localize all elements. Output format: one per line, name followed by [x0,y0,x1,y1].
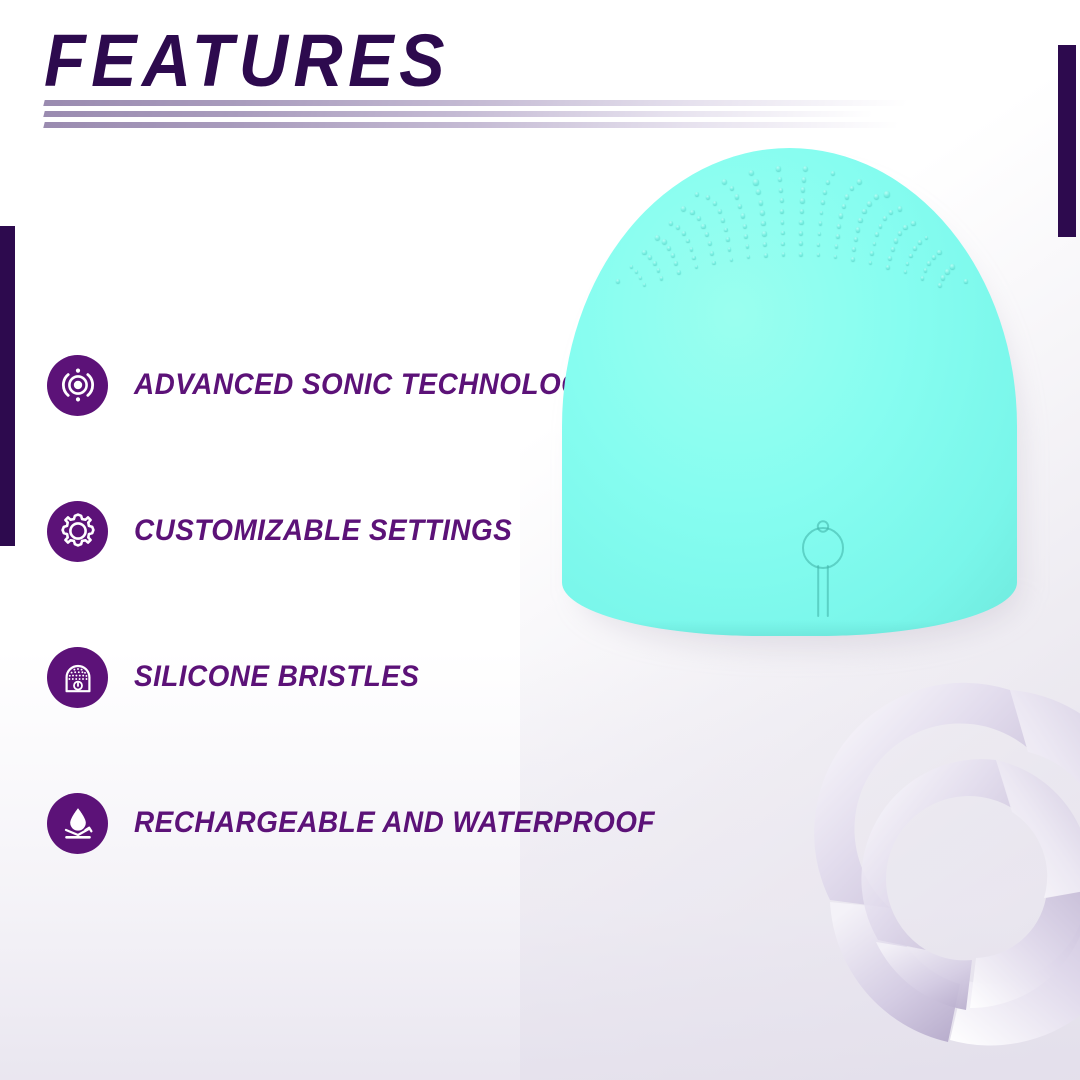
bristle-dot [826,180,830,184]
bristle-dot [677,270,681,274]
bristle-dot [681,206,686,211]
bristle-dot [616,279,620,283]
bristle-dot [662,239,667,244]
bristle-dot [749,170,754,175]
bristle-dot [799,220,803,224]
page-title-block: FEATURES [44,22,664,100]
bristle-dot [889,210,893,214]
bristle-dot [835,244,839,248]
bristle-dot [781,220,785,224]
bristle-dot [837,224,841,228]
bristle-dot [743,224,747,228]
bristle-dot [845,194,849,198]
bristle-dot [918,240,922,244]
bristle-dot [730,258,733,261]
bristle-dot [756,189,761,194]
product-image [562,148,1032,648]
bristle-dot [801,187,806,192]
bristle-dot [867,201,872,206]
bristle-dot [818,232,821,235]
bristle-dot [891,247,895,251]
feature-label: RECHARGEABLE AND WATERPROOF [134,806,655,840]
bristle-dot [630,265,633,268]
feature-label: SILICONE BRISTLES [134,660,419,694]
bristle-dot [800,198,805,203]
bristle-dot [823,190,827,194]
bristle-dot [701,224,705,228]
bristle-dot [695,265,698,268]
feature-poster: FEATURES ADVANCED SONIC TECHNOLOGY [0,0,1080,1080]
bristle-dot [708,241,712,245]
feature-item-rechargeable-waterproof[interactable]: RECHARGEABLE AND WATERPROOF [47,788,687,858]
bristle-dot [686,239,690,243]
bristle-dot [869,261,872,264]
bristle-dot [802,177,807,182]
bristle-dot [950,264,955,269]
bristle-dot [925,236,929,240]
product-bristle-zone [592,160,992,280]
bristle-dot [945,269,949,273]
bristle-dot [776,166,780,170]
product-body [562,148,1017,636]
title-rule-1 [43,100,944,106]
bristle-dot [903,225,908,230]
bristle-dot [884,191,889,196]
bristle-dot [909,254,912,257]
left-accent-bar [0,226,15,546]
bristle-dot [781,231,785,235]
bristle-dot [819,221,822,224]
bristle-dot [842,204,846,208]
bristle-dot [858,218,863,223]
bristle-dot [803,166,808,171]
bristle-dot [759,200,764,205]
bristle-dot [676,225,680,229]
bristle-dot [763,242,767,246]
bristle-dot [780,209,784,213]
sonic-wave-icon [47,355,108,416]
bristle-dot [762,231,766,235]
bristle-dot [682,231,686,235]
bristle-dot [800,209,804,213]
bristle-dot [941,275,945,279]
bristle-dot [834,255,838,259]
bristle-dot [799,252,803,256]
bristle-dot [728,247,731,250]
bristle-dot [653,261,657,265]
bristle-dot [718,209,722,213]
bristle-dot [639,276,642,279]
bristle-dot [667,246,672,251]
bristle-dot [913,246,916,249]
bristle-dot [874,194,879,199]
right-accent-bar [1058,45,1076,237]
bristle-dot [692,256,695,259]
bristle-dot [657,268,661,272]
bristle-dot [643,283,646,286]
bristle-dot [690,247,694,251]
bristle-dot [747,255,751,259]
bristle-dot [938,283,942,287]
bristle-dot [753,179,758,184]
bristle-dot [648,255,652,259]
lavender-swirl-ornament [760,640,1080,1060]
bristle-dot [820,211,824,215]
bristle-device-icon [47,647,108,708]
bristle-dot [690,210,695,215]
bristle-dot [761,221,766,226]
bristle-dot [746,244,750,248]
bristle-dot [744,234,748,238]
bristle-dot [764,253,768,257]
bristle-dot [724,228,727,231]
bristle-dot [921,276,925,280]
bristle-dot [857,179,862,184]
bristle-dot [870,251,873,254]
feature-label: CUSTOMIZABLE SETTINGS [134,514,512,548]
bristle-dot [831,171,835,175]
bristle-dot [671,253,675,257]
bristle-dot [660,276,664,280]
bristle-dot [778,177,782,181]
bristle-dot [873,242,877,246]
waterproof-droplet-icon [47,793,108,854]
bristle-dot [894,238,898,242]
bristle-dot [782,252,785,255]
gear-icon [47,501,108,562]
bristle-dot [710,251,714,255]
bristle-dot [635,270,638,273]
bristle-dot [927,261,931,265]
bristle-dot [674,261,678,265]
bristle-dot [888,256,892,260]
bristle-dot [722,179,727,184]
bristle-dot [799,241,803,245]
bristle-dot [760,210,765,215]
bristle-dot [741,213,745,217]
title-rule-group [44,100,944,133]
bristle-dot [695,192,699,196]
bristle-dot [886,265,890,269]
bristle-dot [906,262,909,265]
bristle-dot [713,201,717,205]
bristle-dot [839,213,843,217]
bristle-dot [850,186,855,191]
bristle-dot [735,194,739,198]
bristle-dot [836,234,840,238]
bristle-dot [669,221,673,225]
bristle-dot [712,261,716,265]
bristle-dot [738,204,742,208]
bristle-dot [799,231,803,235]
bristle-dot [898,206,902,210]
feature-label: ADVANCED SONIC TECHNOLOGY [134,368,602,402]
bristle-dot [924,268,928,272]
bristle-dot [642,250,646,254]
bristle-dot [883,216,887,220]
bristle-dot [852,247,856,251]
bristle-dot [779,188,783,192]
bristle-dot [911,221,916,226]
bristle-dot [821,200,825,204]
bristle-dot [706,195,710,199]
page-title: FEATURES [44,22,614,100]
bristle-dot [854,237,858,241]
bristle-dot [898,231,902,235]
bristle-dot [932,255,936,259]
bristle-dot [856,227,861,232]
bristle-dot [862,209,867,214]
bristle-dot [655,235,660,240]
feature-item-silicone-bristles[interactable]: SILICONE BRISTLES [47,642,687,712]
bristle-dot [879,224,883,228]
bristle-dot [730,186,735,191]
bristle-dot [705,232,709,236]
bristle-dot [964,279,968,283]
power-button-outline [794,516,852,624]
bristle-dot [937,250,941,254]
bristle-dot [697,216,702,221]
bristle-dot [781,242,784,245]
bristle-dot [875,232,879,236]
bristle-dot [851,257,855,261]
title-rule-2 [43,111,908,117]
bristle-dot [817,243,820,246]
title-rule-3 [43,122,935,128]
bristle-dot [904,270,907,273]
bristle-dot [721,218,725,222]
bristle-dot [817,253,820,256]
bristle-dot [726,237,729,240]
bristle-dot [780,198,784,202]
